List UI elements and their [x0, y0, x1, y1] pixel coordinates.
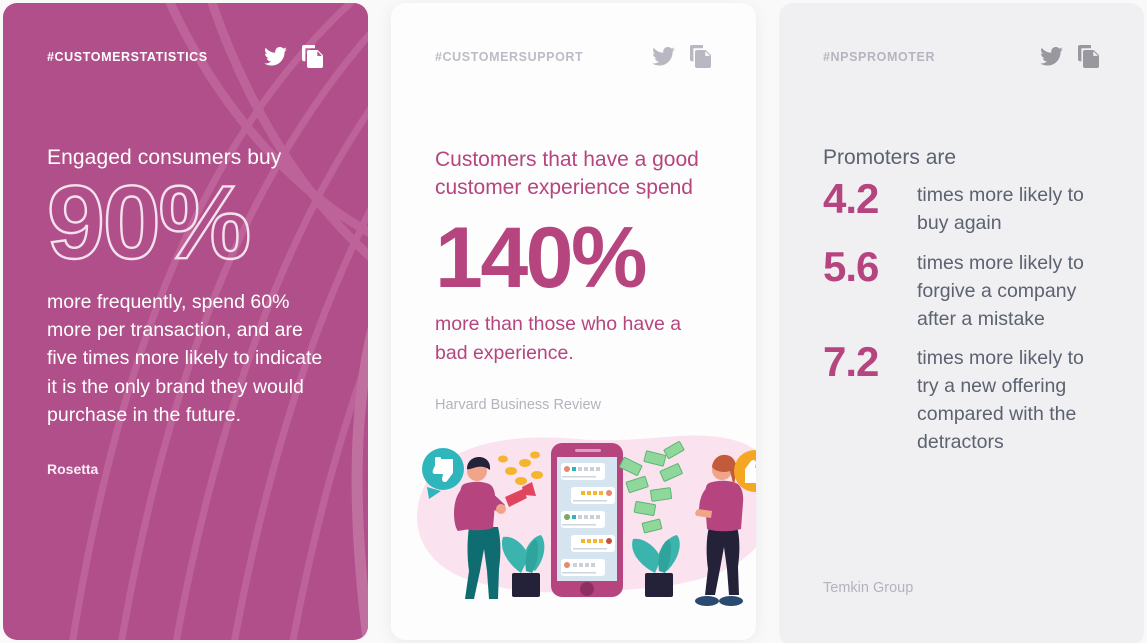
card-header: #CUSTOMERSTATISTICS [47, 45, 324, 68]
copy-icon[interactable] [302, 45, 324, 68]
stat-value: 5.6 [823, 244, 901, 289]
stat-label: times more likely to forgive a company a… [917, 244, 1100, 334]
copy-icon[interactable] [690, 45, 712, 68]
card-source: Temkin Group [823, 580, 1100, 596]
card-body-text: more than those who have a bad experienc… [435, 310, 710, 367]
twitter-icon[interactable] [652, 47, 675, 66]
customer-reviews-illustration [409, 431, 756, 612]
stat-card-customer-support: #CUSTOMERSUPPORT Customers that have a g… [391, 3, 756, 640]
card-actions [652, 45, 712, 68]
stat-item: 7.2 times more likely to try a new offer… [823, 339, 1100, 457]
stat-card-nps-promoter: #NPSPROMOTER Promoters are 4.2 times mor… [779, 3, 1144, 643]
card-actions [1040, 45, 1100, 68]
twitter-icon[interactable] [1040, 47, 1063, 66]
card-source: Rosetta [47, 461, 324, 477]
stat-value: 4.2 [823, 176, 901, 221]
stat-label: times more likely to try a new offering … [917, 339, 1100, 457]
card-source: Harvard Business Review [435, 397, 712, 413]
copy-icon[interactable] [1078, 45, 1100, 68]
stat-item: 5.6 times more likely to forgive a compa… [823, 244, 1100, 334]
card-body-text: more frequently, spend 60% more per tran… [47, 288, 324, 429]
card-lead-text: Customers that have a good customer expe… [435, 146, 710, 203]
card-header: #CUSTOMERSUPPORT [435, 45, 712, 68]
card-lead-text: Promoters are [823, 146, 1100, 170]
twitter-icon[interactable] [264, 47, 287, 66]
card-stat-value: 90% [47, 174, 324, 274]
card-hashtag: #CUSTOMERSUPPORT [435, 50, 583, 64]
card-stat-value: 140% [435, 215, 712, 303]
card-hashtag: #CUSTOMERSTATISTICS [47, 50, 208, 64]
stat-cards-board: #CUSTOMERSTATISTICS Engaged consumers bu… [0, 0, 1147, 643]
card-header: #NPSPROMOTER [823, 45, 1100, 68]
stat-item: 4.2 times more likely to buy again [823, 176, 1100, 238]
stat-label: times more likely to buy again [917, 176, 1100, 238]
card-actions [264, 45, 324, 68]
card-hashtag: #NPSPROMOTER [823, 50, 935, 64]
stat-value: 7.2 [823, 339, 901, 384]
stat-card-customer-statistics: #CUSTOMERSTATISTICS Engaged consumers bu… [3, 3, 368, 640]
